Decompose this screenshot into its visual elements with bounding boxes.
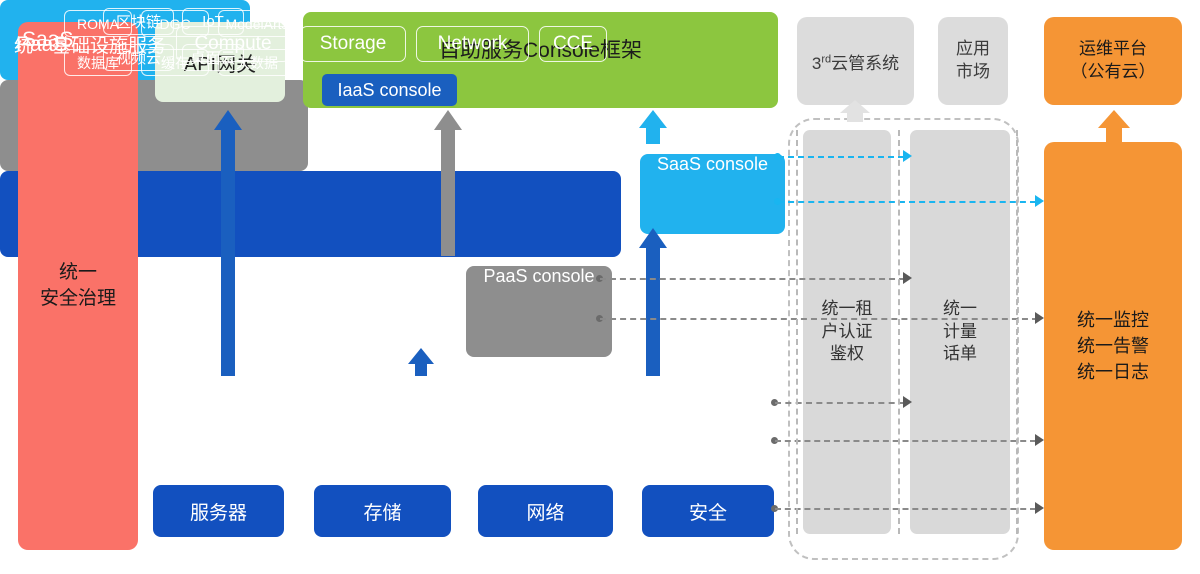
iaas-label: 统一基础设施服务	[14, 31, 166, 58]
arrow-paas-to-console	[434, 110, 462, 256]
arrow-iaas-to-api-gateway	[214, 110, 242, 376]
flow-line-saas-to-ops	[778, 201, 1036, 203]
flow-arrowhead-hardware-to-ops	[1035, 502, 1044, 514]
chip-iaas-console[interactable]: IaaS console	[322, 74, 457, 106]
flow-line-hardware-to-ops	[775, 508, 1036, 510]
flow-arrowhead-saas-to-metering	[903, 150, 912, 162]
iaas-service-network[interactable]: Network	[416, 26, 529, 62]
ops-platform-line-1: 运维平台	[1071, 38, 1156, 61]
arrow-iaas-to-paas	[408, 348, 434, 376]
hardware-network-box[interactable]: 网络	[478, 485, 613, 537]
tenant-auth-line-2: 户认证	[822, 321, 873, 344]
unified-tenant-auth-column: 统一租 户认证 鉴权	[803, 130, 891, 534]
flow-line-paas-to-tenant-auth	[600, 278, 905, 280]
app-market-box: 应用 市场	[938, 17, 1008, 105]
chip-paas-console[interactable]: PaaS console	[466, 266, 612, 357]
ops-platform-public-cloud-box: 运维平台 （公有云）	[1044, 17, 1182, 105]
ops-platform-line-2: （公有云）	[1071, 61, 1156, 84]
hardware-server-box[interactable]: 服务器	[153, 485, 284, 537]
unified-metering-billing-column: 统一 计量 话单	[910, 130, 1010, 534]
third-party-cloud-label: 3rd云管系统	[812, 49, 899, 74]
unified-ops-monitoring-panel: 统一监控 统一告警 统一日志	[1044, 142, 1182, 550]
app-market-line-2: 市场	[956, 61, 990, 84]
security-line-1: 统一	[40, 260, 116, 286]
guide-dash-mid	[898, 130, 900, 534]
flow-arrowhead-iaas-to-metering	[903, 396, 912, 408]
hardware-security-box[interactable]: 安全	[642, 485, 774, 537]
flow-line-paas-to-ops	[600, 318, 1038, 320]
arrow-shared-to-third-party-cloud	[840, 100, 870, 122]
guide-dash-left	[796, 130, 798, 534]
metering-line-2: 计量	[943, 321, 977, 344]
iaas-service-cce[interactable]: CCE	[539, 26, 607, 62]
chip-saas-console[interactable]: SaaS console	[640, 154, 785, 234]
ops-side-line-1: 统一监控	[1077, 307, 1149, 333]
flow-arrowhead-paas-to-ops	[1035, 312, 1044, 324]
unified-security-governance-panel: 统一 安全治理	[18, 22, 138, 550]
flow-arrowhead-saas-to-ops	[1035, 195, 1044, 207]
tenant-auth-line-3: 鉴权	[822, 343, 873, 366]
flow-line-iaas-to-tenant-auth	[775, 402, 905, 404]
ops-side-line-3: 统一日志	[1077, 359, 1149, 385]
flow-arrowhead-paas-to-metering	[903, 272, 912, 284]
hardware-storage-box[interactable]: 存储	[314, 485, 451, 537]
flow-line-iaas-to-ops	[775, 440, 1036, 442]
iaas-service-compute[interactable]: Compute	[176, 26, 290, 62]
flow-arrowhead-iaas-to-ops	[1035, 434, 1044, 446]
metering-line-3: 话单	[943, 343, 977, 366]
arrow-iaas-to-saas	[639, 228, 667, 376]
architecture-diagram: 统一 安全治理 API网关 自助服务Console框架 IaaS console…	[0, 0, 1200, 574]
third-party-cloud-management-box: 3rd云管系统	[797, 17, 914, 105]
arrow-ops-bar-to-ops-platform	[1098, 110, 1130, 142]
guide-dash-right	[1016, 130, 1018, 534]
app-market-line-1: 应用	[956, 38, 990, 61]
ops-side-line-2: 统一告警	[1077, 333, 1149, 359]
security-line-2: 安全治理	[40, 286, 116, 312]
iaas-service-storage[interactable]: Storage	[300, 26, 406, 62]
arrow-saas-to-console	[639, 110, 667, 144]
